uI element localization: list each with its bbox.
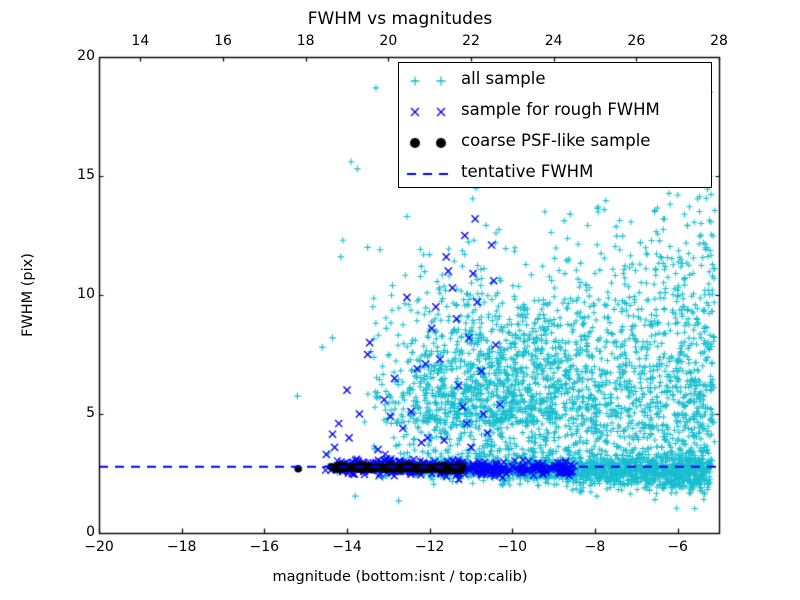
legend-label: tentative FWHM [461,162,593,181]
x-tick-label-bottom: −18 [142,539,222,555]
x-tick-label-top: 20 [348,33,428,49]
x-tick-label-top: 16 [183,33,263,49]
x-tick-label-bottom: −10 [472,539,552,555]
y-tick-label: 15 [39,167,95,183]
x-tick-label-bottom: −16 [224,539,304,555]
legend-item-tentative-fwhm[interactable]: tentative FWHM [399,158,711,190]
figure-container: FWHM vs magnitudes magnitude (bottom:isn… [0,0,800,600]
legend-item-all-sample[interactable]: all sample [399,65,711,97]
y-axis-label: FWHM (pix) [20,205,36,385]
legend-item-rough-fwhm[interactable]: sample for rough FWHM [399,96,711,128]
x-axis-label: magnitude (bottom:isnt / top:calib) [0,569,800,585]
legend-item-psf-like[interactable]: coarse PSF-like sample [399,127,711,159]
y-tick-label: 20 [39,48,95,64]
x-tick-label-top: 18 [266,33,346,49]
cross-marker-icon [399,96,457,128]
legend: all sample sample for rough FWHM coarse … [398,62,712,188]
y-tick-label: 0 [39,524,95,540]
x-tick-label-bottom: −8 [555,539,635,555]
y-tick-label: 10 [39,286,95,302]
x-tick-label-bottom: −12 [390,539,470,555]
x-tick-label-bottom: −6 [638,539,718,555]
x-tick-label-top: 24 [514,33,594,49]
x-tick-label-top: 14 [100,33,180,49]
x-tick-label-top: 28 [679,33,759,49]
legend-label: sample for rough FWHM [461,100,660,119]
circle-marker-icon [399,127,457,159]
legend-label: coarse PSF-like sample [461,131,650,150]
x-tick-label-bottom: −14 [307,539,387,555]
chart-title: FWHM vs magnitudes [0,9,800,29]
y-tick-label: 5 [39,405,95,421]
legend-label: all sample [461,69,546,88]
dashed-line-icon [399,158,457,190]
x-tick-label-top: 22 [431,33,511,49]
x-tick-label-top: 26 [596,33,676,49]
plus-marker-icon [399,65,457,97]
x-tick-label-bottom: −20 [59,539,139,555]
